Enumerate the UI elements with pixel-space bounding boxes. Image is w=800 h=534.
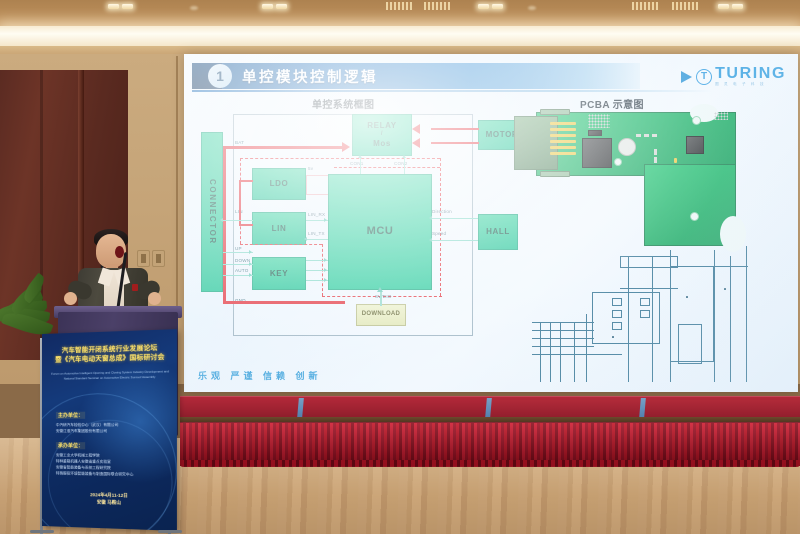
banner-foot-right [158, 530, 182, 533]
ceiling-light [718, 4, 729, 9]
logo-chinese-subtitle: 图 灵 电 子 科 技 [715, 83, 786, 87]
logo-triangle-icon [681, 71, 692, 83]
schematic-ext-line [550, 322, 551, 382]
schematic-ext-line [540, 322, 541, 382]
schematic-ext-line [730, 256, 731, 382]
block-diagram-title: 单控系统框图 [312, 96, 374, 111]
speaker-hand-right [148, 292, 161, 305]
pcb-driver-chip [686, 136, 704, 154]
ceiling-light [276, 4, 287, 9]
swdio-arrow [377, 287, 383, 292]
control-loop-dash-relay [334, 167, 440, 168]
slide-slogan: 乐观 严谨 信赖 创新 [198, 369, 322, 382]
signal-label-lin-rx: LIN_RX [308, 212, 325, 217]
schematic-leader [532, 338, 594, 339]
up-signal-arrow [249, 250, 252, 254]
pcb-via-array [714, 112, 728, 120]
motor-line-bottom [431, 142, 479, 144]
ceiling-light-strip [386, 2, 412, 10]
auto-signal-arrow [249, 273, 252, 277]
banner-cohost-label: 承办单位： [56, 442, 85, 449]
direction-arrow [429, 216, 432, 220]
ceiling-light [122, 4, 133, 9]
schematic-node [724, 288, 726, 290]
v5-line-v [306, 175, 307, 195]
con1-arrow [358, 155, 362, 158]
signal-label-5v: 5v [308, 166, 313, 171]
projection-screen: 1 单控模块控制逻辑 T TURING 图 灵 电 子 科 技 单控系统框图 P… [184, 54, 798, 392]
signal-label-lin-tx: LIN_TX [308, 231, 325, 236]
block-ldo: LDO [252, 168, 306, 200]
control-loop-dash-mid [240, 244, 322, 245]
logo-mark-icon: T [696, 69, 712, 85]
speed-arrow [429, 238, 432, 242]
page-title: 单控模块控制逻辑 [242, 66, 378, 86]
pcb-pin [550, 134, 576, 137]
power-branch-ldo [239, 180, 253, 182]
speed-line [432, 240, 478, 241]
relay-label-line1: RELAY [367, 121, 396, 131]
event-banner: 汽车智能开闭系统行业发展论坛 暨《汽车电动天窗总成》国标研讨会 Forum on… [42, 329, 177, 531]
lin-signal-line [223, 220, 253, 221]
banner-foot-left [30, 530, 54, 533]
motor-arrow-bottom [412, 138, 420, 148]
pcb-led [674, 158, 677, 163]
pin-label-auto: AUTO [235, 268, 248, 273]
schematic-pad [612, 298, 622, 306]
conference-room-photo: 1 单控模块控制逻辑 T TURING 图 灵 电 子 科 技 单控系统框图 P… [0, 0, 800, 534]
schematic-node [686, 296, 688, 298]
pcb-mount-hole [692, 116, 701, 125]
lin-signal-arrow [220, 218, 223, 222]
microphone-head [115, 246, 124, 258]
pcb-mount-hole [614, 158, 622, 166]
signal-label-con2: CON2 [394, 161, 408, 166]
schematic-footprint [678, 324, 702, 364]
speaker-lapel-badge [132, 284, 138, 291]
block-relay-mos: RELAY / Mos [352, 114, 412, 156]
con1-line [360, 158, 361, 174]
ceiling-spot [528, 6, 536, 10]
pin-label-up: UP [235, 246, 242, 251]
power-rail-gnd [223, 301, 345, 304]
schematic-node [612, 336, 614, 338]
pcb-pin [550, 128, 576, 131]
signal-label-speed: Speed [432, 231, 446, 236]
ceiling-light [478, 4, 489, 9]
motor-line-top [431, 128, 479, 130]
schematic-pad [640, 298, 650, 306]
company-logo: T TURING 图 灵 电 子 科 技 [681, 63, 786, 90]
schematic-ext-line [670, 250, 671, 382]
banner-title: 汽车智能开闭系统行业发展论坛 暨《汽车电动天窗总成》国标研讨会 [47, 343, 174, 365]
pcb-ic-small [588, 130, 602, 136]
v5-line-h2 [306, 194, 328, 195]
pcb-pin [550, 122, 576, 125]
ceiling-light-strip [632, 2, 658, 10]
power-branch-lin [239, 224, 253, 226]
pcb-pin [550, 140, 576, 143]
block-hall: HALL [478, 214, 518, 250]
block-download: DOWNLOAD [356, 304, 406, 326]
schematic-leader [532, 346, 594, 347]
relay-label-line3: Mos [373, 139, 391, 149]
pcb-mcu-chip [582, 138, 612, 168]
pcb-pin [550, 152, 576, 155]
schematic-ext-line [652, 256, 653, 382]
pin-label-bat: BAT [235, 140, 244, 145]
stage-skirt-hem [180, 460, 800, 467]
schematic-ext-line [560, 322, 561, 382]
pcb-resistor [652, 134, 657, 137]
pcb-connector-clip-bottom [540, 171, 570, 177]
ceiling-light [732, 4, 743, 9]
cove-lighting [0, 26, 800, 48]
block-key: KEY [252, 257, 306, 290]
schematic-ext-line [714, 250, 715, 382]
block-mcu: MCU [328, 174, 432, 290]
swdio-line [380, 290, 382, 306]
logo-wordmark: TURING [715, 66, 786, 82]
signal-label-swdio: SWDIO [375, 294, 392, 299]
control-loop-dash-right [440, 158, 441, 296]
down-signal-arrow [249, 262, 252, 266]
banner-organizer-label: 主办单位： [56, 412, 85, 419]
key-arrow-3 [324, 278, 327, 282]
banner-cohost-list: 安徽工业大学机械工程学院 特种重载机器人安徽省重点实验室 安徽省智能装备与系统工… [56, 452, 134, 477]
wall-outlet [137, 250, 150, 267]
ceiling-spot [190, 6, 198, 10]
signal-label-con1: CON1 [350, 161, 364, 166]
schematic-ext-line [586, 314, 587, 382]
power-arrow-to-relay [342, 142, 350, 152]
ceiling-light [492, 4, 503, 9]
motor-arrow-top [412, 124, 420, 134]
schematic-leader [532, 330, 594, 331]
schematic-pad [612, 322, 622, 330]
schematic-pad [612, 310, 622, 318]
control-loop-dash-top [240, 158, 440, 159]
schematic-dim-line [620, 288, 678, 289]
ceiling-light [262, 4, 273, 9]
pcb-resistor [654, 157, 657, 163]
pcb-resistor [644, 134, 649, 137]
pcba-title: PCBA 示意图 [580, 96, 644, 111]
lin-rx-arrow [324, 218, 327, 222]
block-lin: LIN [252, 212, 306, 245]
pcb-electrolytic-cap [618, 138, 636, 156]
schematic-leader [532, 354, 622, 355]
schematic-dim-line [670, 266, 748, 267]
banner-organizer-list: 中汽研汽车检验中心（武汉）有限公司 安徽江淮汽车集团股份有限公司 [56, 422, 118, 434]
speaker-hand-left [64, 292, 77, 305]
slide-number-badge: 1 [208, 64, 232, 88]
relay-label-line2: / [381, 131, 383, 139]
pcb-mount-hole [690, 212, 699, 221]
schematic-leader [532, 322, 594, 323]
signal-label-direction: Direction [432, 209, 452, 214]
pcb-resistor [636, 134, 641, 137]
ceiling-light-strip [424, 2, 450, 10]
control-loop-dash-left [240, 158, 241, 244]
power-rail-bat [223, 146, 345, 149]
v5-line-h1 [306, 175, 328, 176]
lin-tx-line [306, 239, 328, 240]
pcb-connector-clip-top [540, 109, 570, 115]
wall-outlet [152, 250, 165, 267]
con2-arrow [402, 155, 406, 158]
direction-line [432, 218, 478, 219]
pcb-schematic-drawing [520, 240, 770, 392]
key-arrow-1 [324, 258, 327, 262]
ceiling-light-strip [672, 2, 698, 10]
power-rail-vertical [223, 146, 226, 304]
schematic-ext-line [628, 256, 629, 382]
presentation-slide: 1 单控模块控制逻辑 T TURING 图 灵 电 子 科 技 单控系统框图 P… [184, 54, 798, 392]
pcb-via-array [588, 114, 610, 128]
block-connector: CONNECTOR [201, 132, 223, 292]
key-arrow-2 [324, 268, 327, 272]
lin-tx-arrow [304, 237, 307, 241]
pcb-resistor [654, 149, 657, 155]
pcb-pin [550, 146, 576, 149]
header-underline [192, 90, 712, 92]
schematic-pad [640, 310, 650, 318]
schematic-ext-line [574, 322, 575, 382]
con2-line [404, 158, 405, 174]
ceiling-light [108, 4, 119, 9]
